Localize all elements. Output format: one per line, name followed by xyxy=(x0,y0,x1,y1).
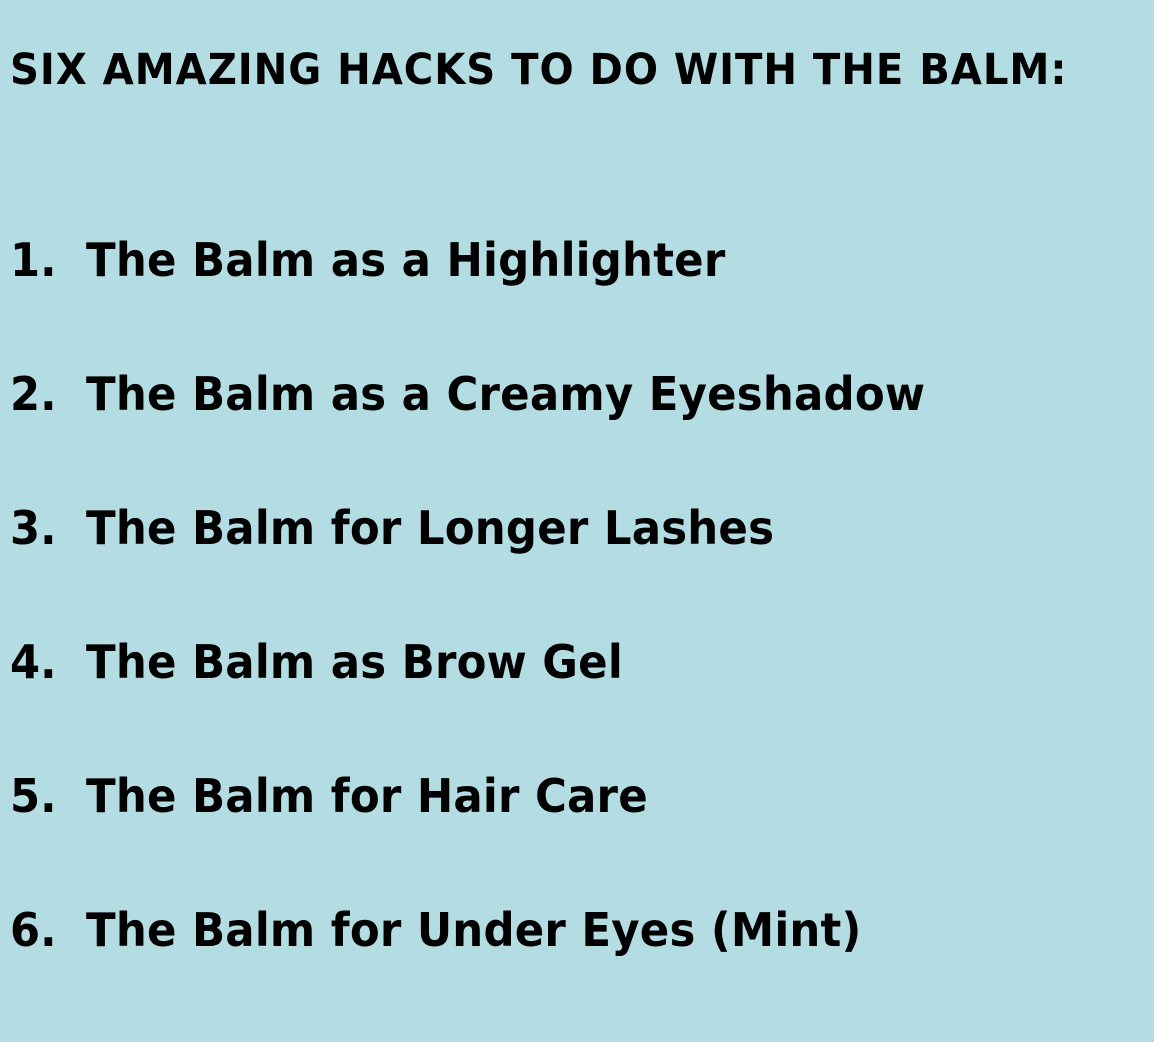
list-item-label: The Balm as Brow Gel xyxy=(86,634,623,690)
page-title: SIX AMAZING HACKS TO DO WITH THE BALM: xyxy=(10,44,1067,96)
list-item-number: 3. xyxy=(10,500,81,556)
list-item-label: The Balm for Longer Lashes xyxy=(86,500,774,556)
list-item-number: 1. xyxy=(10,232,81,288)
list-item-number: 2. xyxy=(10,366,81,422)
list-item: 5. The Balm for Hair Care xyxy=(0,768,1154,902)
list-item: 2. The Balm as a Creamy Eyeshadow xyxy=(0,366,1154,500)
list-item: 3. The Balm for Longer Lashes xyxy=(0,500,1154,634)
list-item-label: The Balm as a Creamy Eyeshadow xyxy=(86,366,925,422)
list-item-label: The Balm for Under Eyes (Mint) xyxy=(86,902,862,958)
list-item: 4. The Balm as Brow Gel xyxy=(0,634,1154,768)
list-item-label: The Balm for Hair Care xyxy=(86,768,648,824)
list-item-number: 5. xyxy=(10,768,81,824)
list-item: 1. The Balm as a Highlighter xyxy=(0,232,1154,366)
list-item-label: The Balm as a Highlighter xyxy=(86,232,725,288)
poster-canvas: SIX AMAZING HACKS TO DO WITH THE BALM: 1… xyxy=(0,0,1154,1042)
list-item-number: 6. xyxy=(10,902,81,958)
list-item: 6. The Balm for Under Eyes (Mint) xyxy=(0,902,1154,1036)
hacks-list: 1. The Balm as a Highlighter 2. The Balm… xyxy=(0,232,1154,1036)
list-item-number: 4. xyxy=(10,634,81,690)
